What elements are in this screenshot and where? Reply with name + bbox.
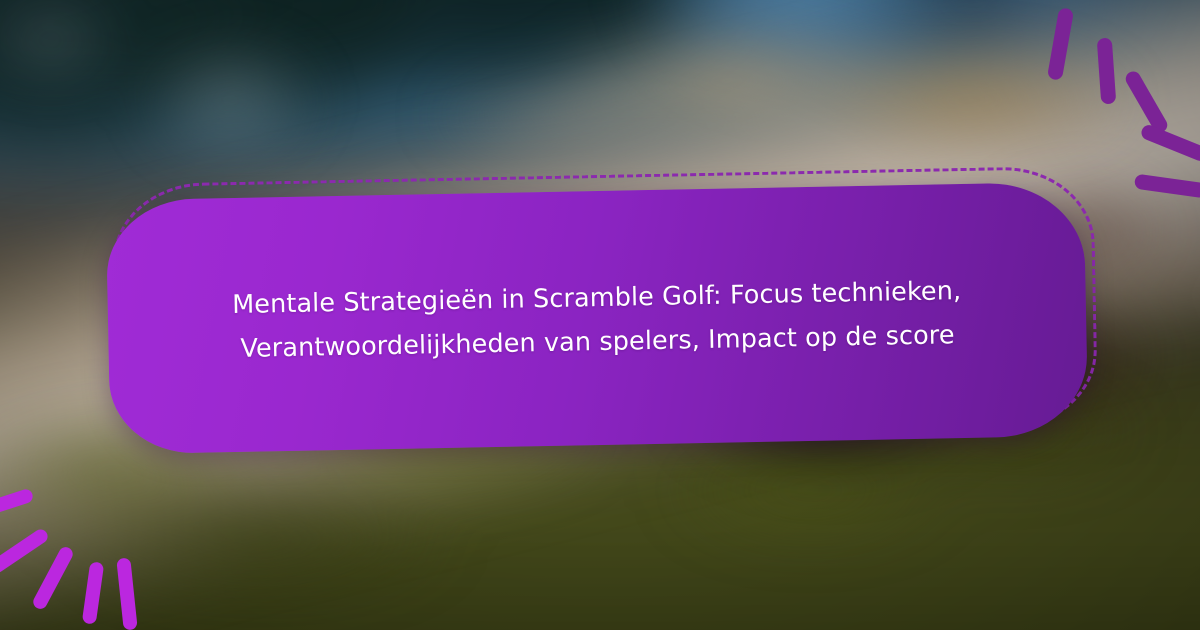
burst-ray-icon: [0, 527, 50, 576]
burst-ray-icon: [1139, 123, 1200, 163]
title-card: Mentale Strategieën in Scramble Golf: Fo…: [106, 174, 1095, 459]
sparkle-burst-icon-top-right: [1035, 0, 1200, 170]
burst-ray-icon: [116, 557, 137, 630]
burst-ray-icon: [1047, 7, 1074, 81]
burst-ray-icon: [0, 488, 34, 523]
burst-ray-icon: [1097, 38, 1117, 105]
burst-ray-icon: [82, 561, 104, 624]
sparkle-burst-icon-bottom-left: [0, 462, 176, 630]
page-title: Mentale Strategieën in Scramble Golf: Fo…: [196, 264, 998, 371]
card-body: Mentale Strategieën in Scramble Golf: Fo…: [106, 182, 1089, 455]
share-card-canvas: Mentale Strategieën in Scramble Golf: Fo…: [0, 0, 1200, 630]
burst-ray-icon: [31, 545, 75, 612]
